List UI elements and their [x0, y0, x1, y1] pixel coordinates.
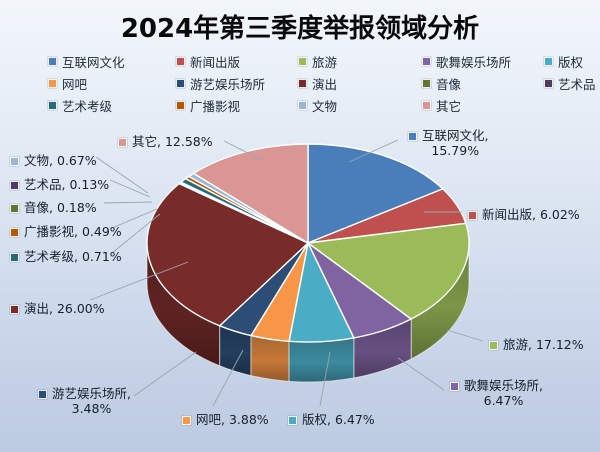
callout-text: 文物, 0.67% [24, 153, 97, 168]
callout-text: 艺术考级, 0.71% [24, 249, 122, 264]
chart-canvas: 2024年第三季度举报领域分析 互联网文化新闻出版旅游歌舞娱乐场所版权网吧游艺娱… [0, 0, 600, 452]
callout-gewu: 歌舞娱乐场所,6.47% [450, 378, 543, 408]
callout-yishukaoji: 艺术考级, 0.71% [10, 249, 122, 264]
callout-text: 广播影视, 0.49% [24, 224, 122, 239]
callout-swatch-icon [10, 305, 19, 314]
callout-swatch-icon [489, 341, 498, 350]
callout-text: 游艺娱乐场所,3.48% [52, 386, 131, 416]
callout-text: 新闻出版, 6.02% [482, 207, 580, 222]
callout-text: 互联网文化,15.79% [422, 128, 488, 158]
callout-yishupin: 艺术品, 0.13% [10, 177, 109, 192]
callout-swatch-icon [468, 211, 477, 220]
callout-text: 版权, 6.47% [302, 412, 375, 427]
callout-text: 艺术品, 0.13% [24, 177, 109, 192]
callout-swatch-icon [450, 382, 459, 391]
callout-hulianwang: 互联网文化,15.79% [408, 128, 488, 158]
callout-xinwen: 新闻出版, 6.02% [468, 207, 580, 222]
callout-swatch-icon [182, 416, 191, 425]
callout-wenwu: 文物, 0.67% [10, 153, 97, 168]
callout-swatch-icon [10, 204, 19, 213]
callout-lvyou: 旅游, 17.12% [489, 337, 584, 352]
callout-qita: 其它, 12.58% [118, 134, 213, 149]
callout-wangba: 网吧, 3.88% [182, 412, 269, 427]
callout-swatch-icon [10, 228, 19, 237]
callout-swatch-icon [10, 181, 19, 190]
callout-guangbo: 广播影视, 0.49% [10, 224, 122, 239]
callout-text: 旅游, 17.12% [503, 337, 584, 352]
callout-swatch-icon [118, 138, 127, 147]
callout-yinxiang: 音像, 0.18% [10, 200, 97, 215]
callout-yanchu: 演出, 26.00% [10, 301, 105, 316]
callout-text: 歌舞娱乐场所,6.47% [464, 378, 543, 408]
callout-swatch-icon [10, 157, 19, 166]
callout-text: 网吧, 3.88% [196, 412, 269, 427]
callout-text: 其它, 12.58% [132, 134, 213, 149]
callout-banquan: 版权, 6.47% [288, 412, 375, 427]
callout-swatch-icon [10, 253, 19, 262]
callout-swatch-icon [288, 416, 297, 425]
callout-text: 音像, 0.18% [24, 200, 97, 215]
callout-swatch-icon [38, 390, 47, 399]
callout-text: 演出, 26.00% [24, 301, 105, 316]
callout-youyi: 游艺娱乐场所,3.48% [38, 386, 131, 416]
callout-swatch-icon [408, 132, 417, 141]
